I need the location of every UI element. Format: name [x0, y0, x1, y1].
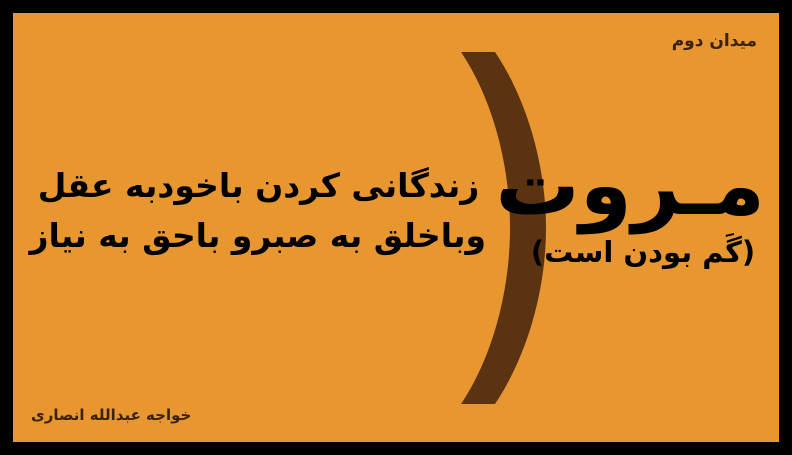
quote-line-1: زندگانی کردن باخودبه عقل [31, 161, 486, 211]
corner-label: میدان دوم [672, 31, 757, 51]
page-title: مـروت [521, 143, 765, 229]
quote-line-2: وباخلق به صبرو باحق به نیاز [31, 211, 486, 261]
headword-gloss: (گَم بودن است) [521, 235, 765, 269]
poster-frame: میدان دوم مـروت (گَم بودن است) زندگانی ک… [0, 0, 792, 455]
poster-card: میدان دوم مـروت (گَم بودن است) زندگانی ک… [13, 13, 779, 442]
headword-block: مـروت (گَم بودن است) [521, 143, 765, 269]
quote-block: زندگانی کردن باخودبه عقل وباخلق به صبرو … [31, 161, 486, 261]
attribution: خواجه عبدالله انصاری [31, 406, 191, 424]
